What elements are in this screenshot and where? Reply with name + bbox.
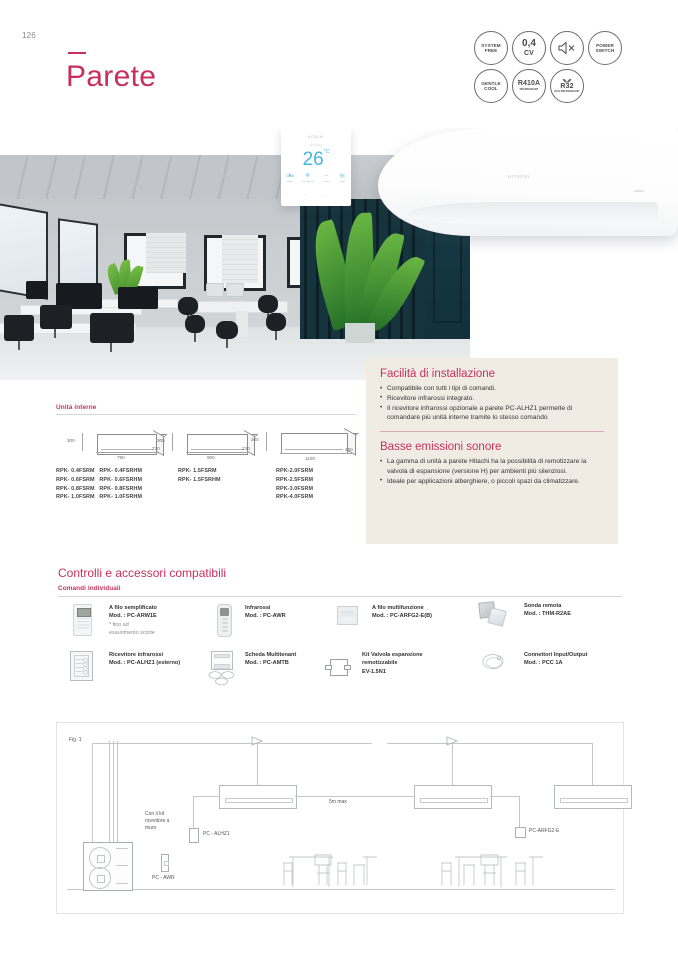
- accessory-note-2: esaurimento scorte: [109, 629, 204, 637]
- dim-width-line-1: [96, 452, 158, 453]
- accessory-note-1: * fino ad: [109, 621, 204, 629]
- thermostat-timer-icon-group[interactable]: ▤ Timer: [339, 174, 345, 183]
- alhz1-line-v: [193, 796, 194, 828]
- chair-8: [216, 321, 238, 339]
- list-item: La gamma di unità a parete Hitachi ha la…: [380, 457, 604, 476]
- thermostat-key-back[interactable]: ‹: [287, 192, 288, 197]
- dim-diagram-1: [88, 424, 166, 464]
- dim-width-line-2: [186, 452, 248, 453]
- list-item: Ricevitore infrarossi integrato.: [380, 394, 604, 403]
- thermostat-louver-icon-group[interactable]: ⌁ Louver: [323, 174, 330, 183]
- accessory-wired-multifunction: A filo multifunzione Mod. : PC-ARFG2-E(B…: [372, 604, 472, 621]
- list-item: Compatibile con tutti i tipi di comandi.: [380, 384, 604, 393]
- model-list-1: RPK- 0.4FSRM RPK- 0.4FSRHM RPK- 0.6FSRM …: [56, 467, 142, 502]
- accessory-io-connectors: Connettori Input/Output Mod. : PCC 1A: [524, 651, 634, 668]
- arfg2-controller-box: [515, 827, 526, 838]
- link-line-5m: [295, 796, 415, 797]
- badge-r32: R32 ECO REFRIGERANT: [550, 69, 584, 103]
- noise-heading: Basse emissioni sonore: [380, 441, 604, 453]
- badge-r32-sub: ECO REFRIGERANT: [554, 91, 579, 94]
- badge-low-noise: [550, 31, 584, 65]
- badge-power-switch: POWER SWITCH: [588, 31, 622, 65]
- badge-capacity-04cv: 0,4 CV: [512, 31, 546, 65]
- chair-1: [40, 305, 72, 329]
- alhz1-receiver-box: [189, 828, 199, 843]
- box-front-face: [281, 433, 348, 454]
- branch-drop-3: [592, 743, 593, 785]
- indoor-units-label: Unità interne: [56, 404, 96, 411]
- thermostat-key-next[interactable]: ›: [344, 192, 345, 197]
- chair-6: [258, 295, 278, 313]
- indoor-unit-body: HITACHI: [378, 128, 678, 236]
- chair-4: [178, 297, 198, 315]
- indoor-unit-led: [634, 190, 644, 192]
- indoor-unit-diagram-2: [414, 785, 492, 809]
- arfg2-line-v: [519, 796, 520, 828]
- installation-bullets: Compatibile con tutti i tipi di comandi.…: [380, 384, 604, 422]
- thermostat-icon-row: ✷ Mode ❅ Fan Speed ⌁ Louver ▤ Timer: [287, 174, 345, 183]
- awr-label: PC - AWR: [152, 875, 175, 882]
- page-title: Parete: [66, 62, 156, 92]
- thermostat-key-down[interactable]: ⌄: [324, 192, 327, 197]
- trunk-line-right: [387, 743, 592, 744]
- accessory-remote-probe: Sonda remota Mod. : THM-R2AE: [524, 602, 619, 619]
- list-item: Il ricevitore infrarossi opzionale a par…: [380, 404, 604, 423]
- dim-width-1: 790: [117, 455, 125, 460]
- hero-photo: HITACHI HITACHI airCloud Cool 26°C ✷ Mod…: [0, 128, 678, 380]
- dim-height-3: 300: [251, 437, 259, 442]
- unit-box-2: [177, 424, 257, 464]
- accessory-model: Mod. : PC-ALHZ1 (esterno): [109, 659, 224, 667]
- accessory-name: A filo multifunzione: [372, 604, 472, 612]
- indoor-unit-logo: HITACHI: [508, 174, 530, 179]
- furniture-group-1: [279, 843, 379, 890]
- dim-width-2: 900: [207, 455, 215, 460]
- thermostat-mode-icon-group[interactable]: ✷ Mode: [287, 174, 292, 183]
- installation-heading: Facilità di installazione: [380, 368, 604, 380]
- accessory-model: remotizzabile: [362, 659, 462, 667]
- model-list-2: RPK- 1.5FSRM RPK- 1.5FSRHM: [178, 467, 221, 485]
- thermostat-fan-icon-group[interactable]: ❅ Fan Speed: [302, 174, 313, 183]
- speaker-mute-icon: [557, 41, 577, 55]
- installation-block: Facilità di installazione Compatibile co…: [380, 368, 604, 422]
- controls-rule: [58, 596, 622, 597]
- chair-5: [185, 315, 205, 333]
- furniture-group-2: [437, 843, 547, 890]
- chair-3: [4, 315, 34, 341]
- dim-height-line-2: [172, 433, 173, 451]
- title-dash-decoration: [68, 52, 86, 54]
- flow-arrow-2: [446, 736, 460, 746]
- io-connector-icon: [482, 653, 506, 671]
- badge-gentle-cool-line2: COOL: [484, 86, 498, 91]
- figure-1-diagram: Fig. 1 5m max PC - ALHZ1 PC-ARFG2-E Con …: [56, 722, 624, 914]
- mode-icon: ✷: [287, 174, 292, 180]
- outdoor-fan-top: [89, 847, 111, 869]
- list-item: Ideale per applicazioni alberghiere, o p…: [380, 477, 604, 486]
- plant-pot: [345, 323, 375, 343]
- projection-screen-1: [146, 233, 186, 273]
- thermostat-subtitle: airCloud: [281, 144, 351, 147]
- thermostat-key-home[interactable]: ⌂: [305, 192, 307, 197]
- accessory-infrared: Infrarossi Mod. : PC-AWR: [245, 604, 333, 621]
- accessory-name: Kit Valvola espansione: [362, 651, 462, 659]
- fan-speed-icon-label: Fan Speed: [302, 181, 313, 183]
- dim-width-3: 1100: [305, 456, 315, 461]
- timer-icon-label: Timer: [339, 181, 345, 183]
- louver-icon: ⌁: [325, 174, 328, 180]
- arfg2-label: PC-ARFG2-E: [529, 828, 559, 835]
- badge-r410a-sub: REFRIGERANT: [520, 89, 539, 92]
- dim-depth-2: 230: [242, 446, 250, 451]
- accessory-ir-receiver: Ricevitore infrarossi Mod. : PC-ALHZ1 (e…: [109, 651, 224, 668]
- mode-icon-label: Mode: [287, 181, 292, 183]
- monitor-3: [118, 287, 158, 309]
- wall-mounted-indoor-unit: HITACHI: [378, 128, 678, 246]
- wall-controller-icon: [337, 606, 358, 625]
- indoor-unit-air-vent: [408, 202, 658, 224]
- wired-controller-icon: [73, 604, 92, 636]
- fan-speed-icon: ❅: [305, 174, 310, 180]
- distance-label: 5m max: [329, 799, 347, 806]
- branch-drop-2: [452, 743, 453, 785]
- thermostat-temperature-value: 26: [303, 149, 324, 170]
- chair-2: [90, 313, 134, 343]
- accessory-wired-simplified: A filo semplificato Mod. : PC-ARW1E * fi…: [109, 604, 204, 637]
- badge-r410a: R410A REFRIGERANT: [512, 69, 546, 103]
- remote-sensor-icon: [479, 602, 505, 624]
- badge-power-switch-line2: SWITCH: [596, 48, 615, 53]
- flow-arrow-1: [251, 736, 265, 746]
- wall-thermostat[interactable]: HITACHI airCloud Cool 26°C ✷ Mode ❅ Fan …: [281, 128, 351, 206]
- infrared-receiver-icon: [70, 651, 93, 681]
- branch-drop-1: [257, 743, 258, 785]
- alhz1-label: PC - ALHZ1: [203, 831, 230, 838]
- accessory-name: Sonda remota: [524, 602, 619, 610]
- accessory-model: Mod. : THM-R2AE: [524, 610, 619, 618]
- dim-depth-1: 230: [152, 446, 160, 451]
- thermostat-brand: HITACHI: [281, 135, 351, 139]
- conference-table-leg: [236, 311, 248, 337]
- timer-icon: ▤: [340, 174, 345, 180]
- accessory-model: Mod. : PC-ARFG2-E(B): [372, 612, 472, 620]
- indoor-unit-diagram-1: [219, 785, 297, 809]
- monitor-5: [226, 283, 244, 297]
- accessory-name: Connettori Input/Output: [524, 651, 634, 659]
- accessory-name: Infrarossi: [245, 604, 333, 612]
- projection-screen-2: [222, 235, 258, 283]
- controls-heading: Controlli e accessori compatibili: [58, 566, 226, 580]
- controls-subheading: Comandi individuali: [58, 585, 121, 592]
- page-number: 126: [22, 31, 36, 40]
- model-list-3: RPK-2.0FSRM RPK-2.5FSRM RPK-3.0FSRM RPK-…: [276, 467, 313, 502]
- wiring-loops-icon: [208, 671, 238, 685]
- dim-width-line-3: [280, 453, 352, 454]
- chair-7: [266, 313, 286, 331]
- indoor-units-rule: [56, 414, 356, 415]
- thermostat-temperature: 26°C: [281, 150, 351, 169]
- dim-height-line-1: [82, 433, 83, 451]
- alhz1-line-h: [193, 796, 220, 797]
- louver-icon-label: Louver: [323, 181, 330, 183]
- dim-height-1: 300: [67, 438, 75, 443]
- dim-height-2: 300: [157, 438, 165, 443]
- dim-height-line-3: [266, 432, 267, 451]
- badge-capacity-value: 0,4: [522, 38, 536, 50]
- badge-gentle-cool: GENTLE COOL: [474, 69, 508, 103]
- multitenant-board-icon: [211, 651, 238, 690]
- features-panel: Facilità di installazione Compatibile co…: [366, 358, 618, 544]
- monitor-1: [26, 281, 48, 299]
- noise-block: Basse emissioni sonore La gamma di unità…: [380, 441, 604, 486]
- trunk-line-left: [92, 743, 372, 744]
- accessory-model: Mod. : PC-AWR: [245, 612, 333, 620]
- cable-coil-icon: [482, 653, 506, 671]
- badge-capacity-unit: CV: [524, 50, 534, 58]
- infrared-remote-icon: [217, 604, 232, 637]
- dim-diagram-2: [177, 424, 257, 464]
- feature-badges: SYSTEM FREE 0,4 CV POWER SWITCH GENTLE C…: [474, 31, 622, 103]
- thermostat-temperature-unit: °C: [324, 149, 330, 155]
- indoor-unit-diagram-3: [554, 785, 632, 809]
- awr-remote-box: [161, 854, 169, 872]
- badge-system-free: SYSTEM FREE: [474, 31, 508, 65]
- accessory-model: Mod. : PCC 1A: [524, 659, 634, 667]
- panel-divider: [380, 431, 604, 432]
- expansion-valve-kit-icon: [325, 659, 351, 674]
- accessory-model: Mod. : PC-ARW1E: [109, 612, 204, 620]
- noise-bullets: La gamma di unità a parete Hitachi ha la…: [380, 457, 604, 486]
- accessory-expansion-valve-kit: Kit Valvola espansione remotizzabile EV-…: [362, 651, 462, 676]
- accessory-note-1: EV-1.5N1: [362, 668, 462, 676]
- arfg2-line-h: [490, 796, 520, 797]
- accessory-name: A filo semplificato: [109, 604, 204, 612]
- thermostat-key-row: ‹ ⌂ ⌄ ›: [287, 192, 345, 197]
- accessory-name: Ricevitore infrarossi: [109, 651, 224, 659]
- monitor-4: [206, 283, 224, 297]
- dim-depth-3: 260: [345, 447, 353, 452]
- outdoor-fan-bottom: [89, 867, 111, 889]
- unit-box-1: [88, 424, 166, 464]
- outdoor-unit-diagram: [83, 842, 133, 891]
- figure-label: Fig. 1: [69, 737, 82, 744]
- badge-system-free-line2: FREE: [485, 48, 498, 53]
- wall-kit-note: Con il kit ricevitore a muro: [145, 811, 169, 831]
